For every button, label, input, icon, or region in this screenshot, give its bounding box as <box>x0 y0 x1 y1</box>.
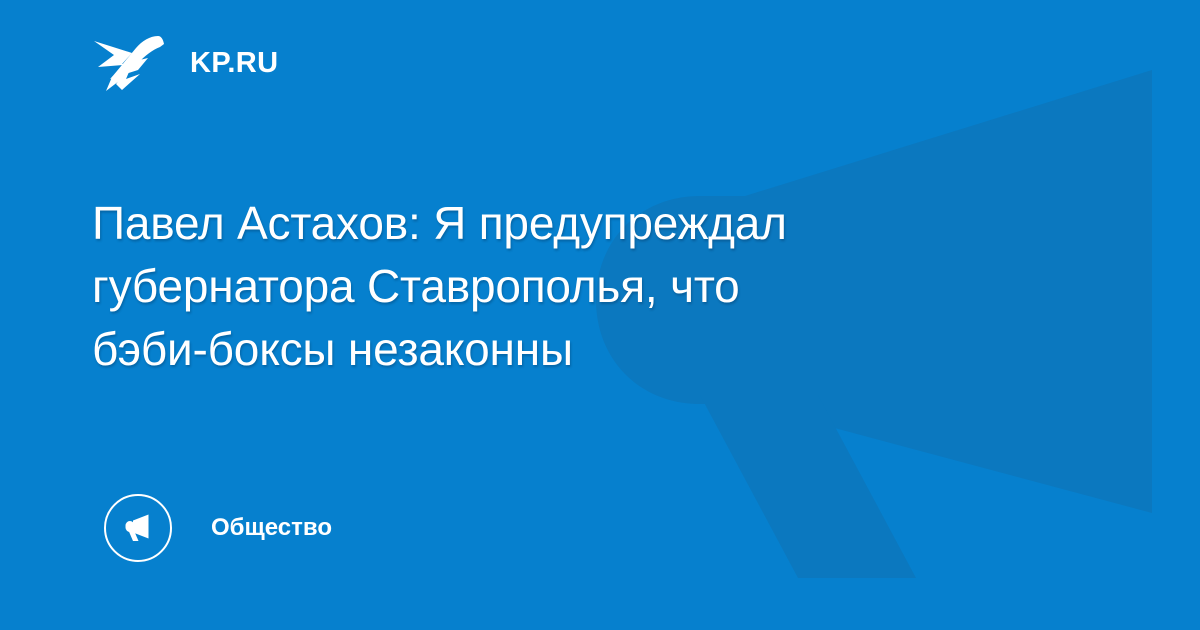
swallow-bird-icon <box>92 34 166 92</box>
brand-logo[interactable]: KP.RU <box>92 34 279 92</box>
category-label: Общество <box>211 516 332 540</box>
page-title: Павел Астахов: Я предупреждал губернатор… <box>92 192 1052 381</box>
social-share-card: KP.RU Павел Астахов: Я предупреждал губе… <box>0 0 1200 630</box>
status-badge[interactable]: Общество <box>104 494 332 562</box>
brand-name: KP.RU <box>190 49 279 78</box>
category-icon-circle <box>104 494 172 562</box>
megaphone-icon <box>120 510 156 546</box>
